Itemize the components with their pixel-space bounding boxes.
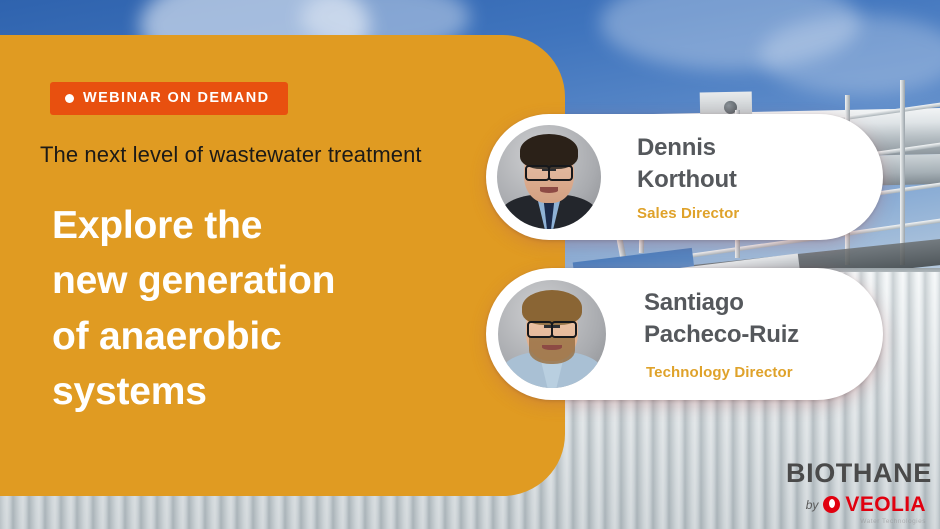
webinar-badge: WEBINAR ON DEMAND	[50, 82, 288, 115]
glasses-lens-left	[525, 165, 550, 181]
webinar-badge-label: WEBINAR ON DEMAND	[83, 91, 270, 106]
logo-brand-name: BIOTHANE	[786, 460, 926, 487]
speaker-info: Santiago Pacheco-Ruiz Technology Directo…	[644, 287, 799, 382]
speaker-name-line-1: Santiago	[644, 287, 799, 319]
brand-logo: BIOTHANE by VEOLIA Water Technologies	[786, 460, 926, 525]
speaker-name-line-1: Dennis	[637, 132, 739, 164]
speaker-name-line-2: Pacheco-Ruiz	[644, 319, 799, 351]
headline-line-4: systems	[52, 364, 472, 419]
webinar-promo-slide: WEBINAR ON DEMAND The next level of wast…	[0, 0, 940, 529]
logo-parent-name: VEOLIA	[845, 494, 926, 515]
speaker-role: Technology Director	[646, 364, 799, 381]
beard-shape	[529, 336, 574, 364]
bullet-dot-icon	[65, 94, 74, 103]
speaker-name-line-2: Korthout	[637, 164, 739, 196]
hero-subtitle: The next level of wastewater treatment	[40, 142, 510, 168]
glasses-lens-right	[551, 321, 576, 338]
mouth-shape	[540, 187, 559, 192]
veolia-mark-icon	[823, 496, 840, 513]
speaker-card-dennis-korthout: Dennis Korthout Sales Director	[486, 114, 883, 240]
avatar	[497, 125, 601, 229]
glasses-icon	[527, 321, 577, 334]
avatar	[498, 280, 606, 388]
headline-line-3: of anaerobic	[52, 309, 472, 364]
logo-parent-row: by VEOLIA	[786, 494, 926, 515]
hero-headline: Explore the new generation of anaerobic …	[52, 198, 472, 420]
headline-line-2: new generation	[52, 253, 472, 308]
speaker-card-santiago-pacheco-ruiz: Santiago Pacheco-Ruiz Technology Directo…	[486, 268, 883, 400]
portrait-illustration	[497, 125, 601, 229]
portrait-illustration	[498, 280, 606, 388]
speaker-role: Sales Director	[637, 205, 739, 222]
hair-shape	[520, 134, 578, 168]
glasses-lens-right	[548, 165, 573, 181]
logo-tagline: Water Technologies	[786, 518, 926, 525]
railing-post	[900, 80, 905, 265]
logo-by-label: by	[806, 498, 819, 512]
speaker-info: Dennis Korthout Sales Director	[637, 132, 739, 222]
glasses-icon	[525, 165, 573, 177]
hair-shape	[522, 290, 582, 326]
glasses-lens-left	[527, 321, 552, 338]
headline-line-1: Explore the	[52, 198, 472, 253]
